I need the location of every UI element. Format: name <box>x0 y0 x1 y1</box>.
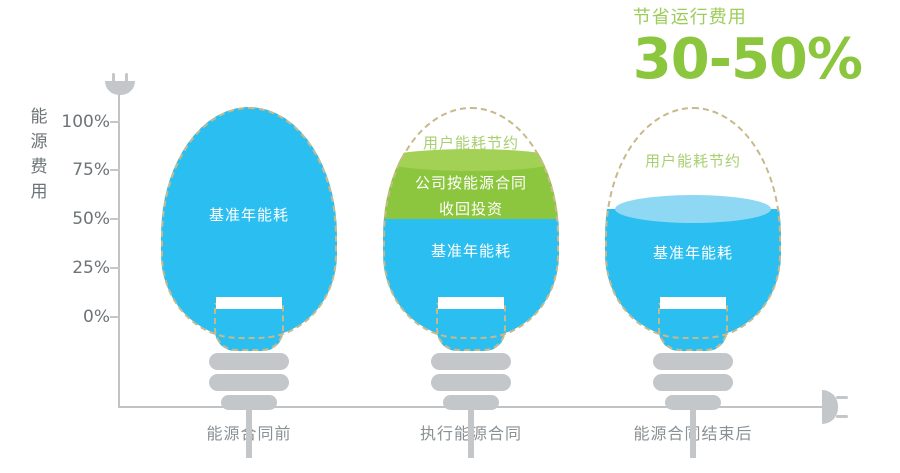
bulb-2-saving-label: 用户能耗节约 <box>383 132 559 153</box>
y-tick-mark-25 <box>110 267 120 269</box>
bulb-chart-1[interactable]: 基准年能耗 <box>161 107 337 407</box>
headline-block: 节省运行费用 30-50% <box>633 6 862 88</box>
y-tick-label-100: 100% <box>61 112 110 132</box>
plug-icon-right <box>822 390 848 424</box>
bulb-3-saving-label: 用户能耗节约 <box>605 150 781 171</box>
bulb-2-neck-outline <box>436 303 506 351</box>
bulb-2-screw-base <box>427 353 515 413</box>
bulb-3-neck-outline <box>658 303 728 351</box>
y-tick-label-75: 75% <box>72 160 110 180</box>
bulb-chart-2[interactable]: 用户能耗节约 公司按能源合同 收回投资 基准年能耗 <box>383 107 559 407</box>
bulb-3-screw-base <box>649 353 737 413</box>
bulb-1-blue-label: 基准年能耗 <box>161 202 337 228</box>
bulb-2-green-label-line1: 公司按能源合同 <box>383 170 559 196</box>
y-tick-label-50: 50% <box>72 209 110 229</box>
bulb-2-blue-label: 基准年能耗 <box>383 238 559 264</box>
bulb-1-screw-base <box>205 353 293 413</box>
y-tick-mark-100 <box>110 121 120 123</box>
y-tick-mark-0 <box>110 316 120 318</box>
y-tick-label-0: 0% <box>83 307 110 327</box>
y-axis-title: 能源费用 <box>26 105 52 205</box>
bulb-1-neck-outline <box>214 303 284 351</box>
plug-icon-top <box>105 73 135 95</box>
headline-value: 30-50% <box>633 32 862 88</box>
infographic-canvas: 节省运行费用 30-50% 能源费用 100% 75% 50% 25% 0% 能… <box>0 0 900 473</box>
bulb-chart-3[interactable]: 用户能耗节约 基准年能耗 <box>605 107 781 407</box>
y-tick-mark-50 <box>110 218 120 220</box>
bulb-2-green-label-line2: 收回投资 <box>383 196 559 222</box>
bulb-3-blue-label: 基准年能耗 <box>605 240 781 266</box>
y-axis-line <box>118 86 120 408</box>
y-tick-label-25: 25% <box>72 258 110 278</box>
y-tick-mark-75 <box>110 169 120 171</box>
